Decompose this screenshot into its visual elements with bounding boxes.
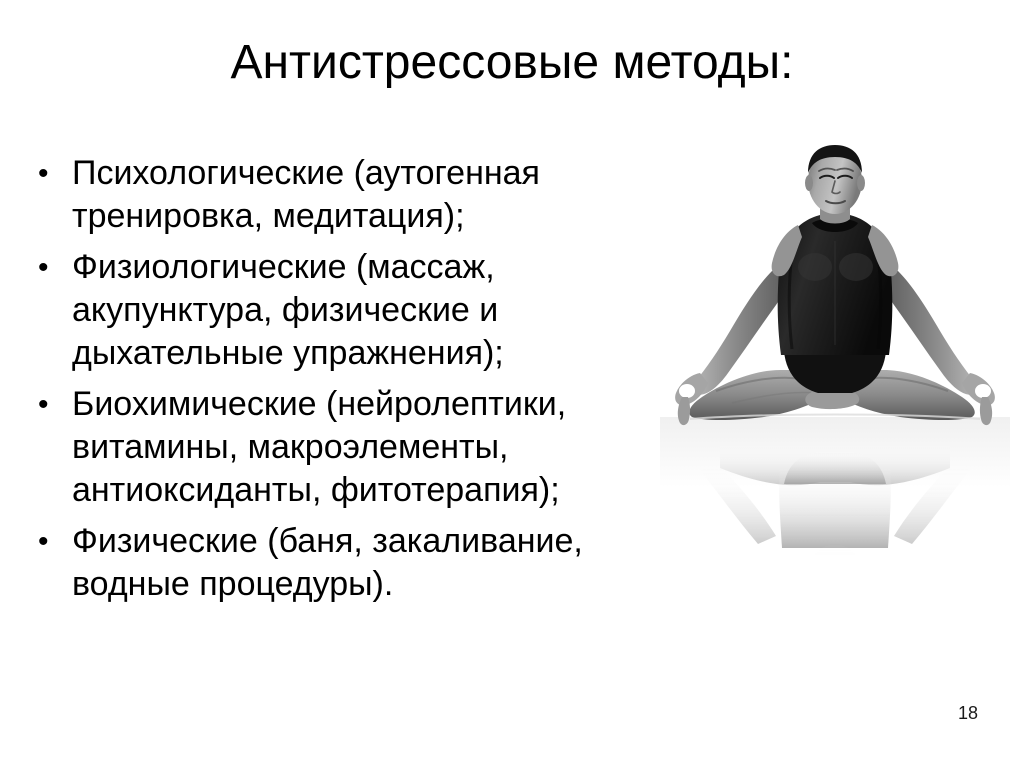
right-mudra-gap (975, 384, 991, 398)
left-mudra-gap (679, 384, 695, 398)
page-title: Антистрессовые методы: (40, 34, 984, 92)
bullet-point-icon: • (38, 246, 58, 289)
list-item-text: Психологические (аутогенная тренировка, … (72, 152, 680, 238)
bullet-point-icon: • (38, 383, 58, 426)
bullet-point-icon: • (38, 520, 58, 563)
meditating-man-photo (660, 145, 1010, 555)
bullet-point-icon: • (38, 152, 58, 195)
list-item: • Психологические (аутогенная тренировка… (30, 152, 680, 238)
list-item-text: Физические (баня, закаливание, водные пр… (72, 520, 680, 606)
left-ear (805, 175, 813, 191)
slide-canvas: Антистрессовые методы: • Психологические… (0, 0, 1024, 768)
list-item: • Физиологические (массаж, акупунктура, … (30, 246, 680, 375)
bullet-list: • Психологические (аутогенная тренировка… (30, 152, 680, 614)
meditating-man-illustration (660, 145, 1010, 555)
list-item: • Биохимические (нейролептики, витамины,… (30, 383, 680, 512)
list-item-text: Биохимические (нейролептики, витамины, м… (72, 383, 680, 512)
right-ear (857, 175, 865, 191)
list-item: • Физические (баня, закаливание, водные … (30, 520, 680, 606)
slide-number: 18 (958, 702, 978, 724)
list-item-text: Физиологические (массаж, акупунктура, фи… (72, 246, 680, 375)
